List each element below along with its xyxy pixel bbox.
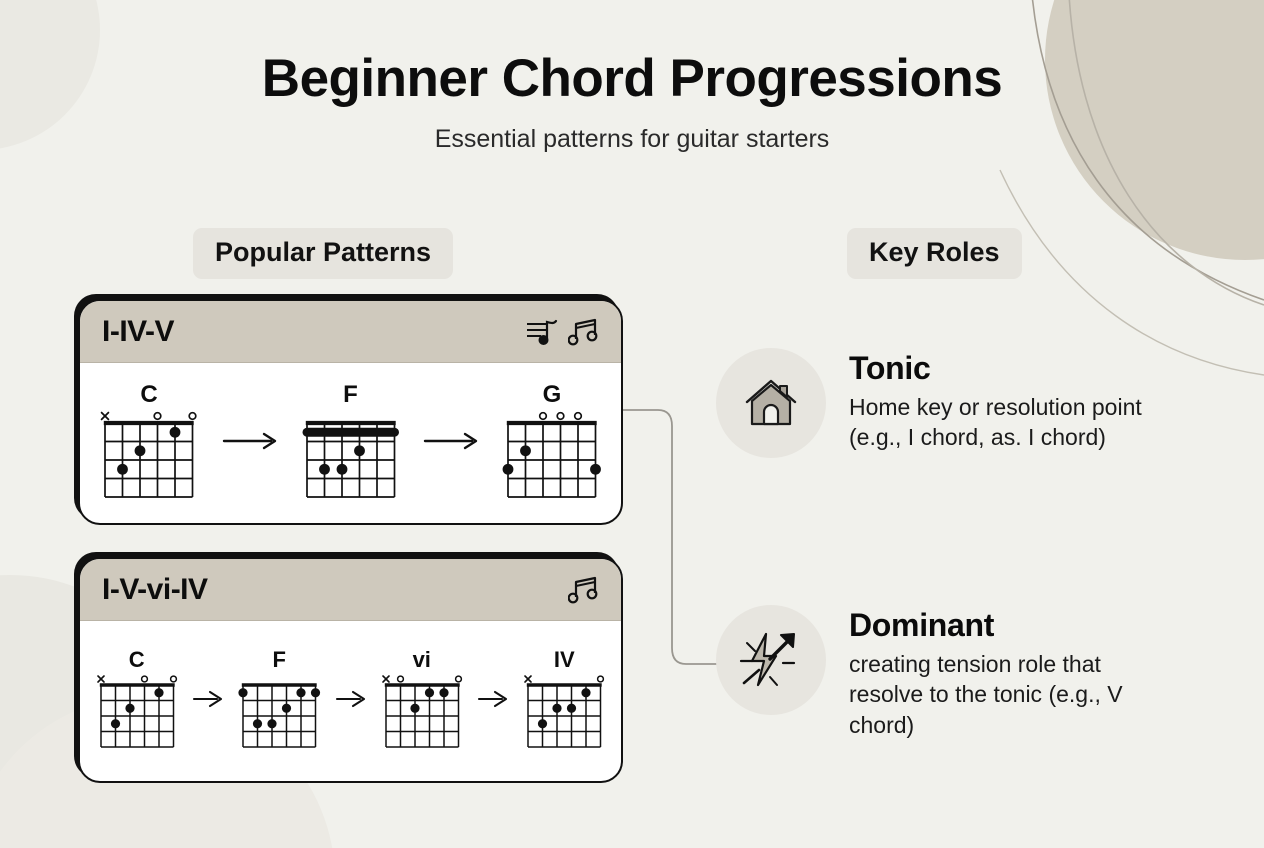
progression-arrow [476, 687, 510, 716]
connector-path [618, 410, 724, 664]
chord-label: F [273, 649, 286, 671]
chord-diagram [92, 672, 183, 753]
progression-arrow-icon [334, 687, 368, 711]
chord-item: vi [377, 649, 468, 753]
chord-item: IV [519, 649, 610, 753]
card-title: I-V-vi-IV [102, 573, 208, 607]
card-header-icons [525, 317, 599, 347]
card-header-icons [568, 575, 599, 605]
progression-arrow [191, 687, 225, 716]
role-badge [716, 348, 826, 458]
decor-arc-3 [1000, 170, 1264, 375]
page-header: Beginner Chord Progressions Essential pa… [0, 52, 1264, 154]
role-text: Dominant creating tension role that reso… [849, 605, 1169, 740]
house-icon [740, 372, 802, 434]
card-title: I-IV-V [102, 315, 174, 349]
progression-arrow [334, 687, 368, 716]
role-title: Dominant [849, 609, 1169, 643]
card-header: I-IV-V [80, 301, 621, 363]
chord-item: F [234, 649, 325, 753]
chord-diagram [519, 672, 610, 753]
chord-diagram [497, 408, 607, 504]
page-subtitle: Essential patterns for guitar starters [0, 125, 1264, 154]
chord-label: G [543, 383, 562, 407]
role-badge [716, 605, 826, 715]
chord-item: C [94, 383, 204, 504]
chord-diagram [94, 408, 204, 504]
chord-diagram [296, 408, 406, 504]
progression-arrow-icon [476, 687, 510, 711]
beamed-notes-icon [568, 575, 599, 605]
progression-arrow [422, 429, 480, 458]
pattern-card-i-v-vi-iv[interactable]: I-V-vi-IV CFviIV [78, 557, 623, 783]
chord-diagram [234, 672, 325, 753]
key-role-dominant: Dominant creating tension role that reso… [716, 605, 1169, 740]
chord-item: G [497, 383, 607, 504]
page-title: Beginner Chord Progressions [0, 52, 1264, 105]
key-role-tonic: Tonic Home key or resolution point (e.g.… [716, 348, 1169, 458]
card-body: CFviIV [80, 621, 621, 781]
card-body: CFG [80, 363, 621, 523]
chord-label: IV [554, 649, 575, 671]
chord-item: C [92, 649, 183, 753]
chord-label: F [343, 383, 358, 407]
chord-label: C [140, 383, 157, 407]
chord-diagram [377, 672, 468, 753]
beamed-notes-icon [568, 317, 599, 347]
progression-arrow-icon [221, 429, 279, 453]
card-header: I-V-vi-IV [80, 559, 621, 621]
role-description: Home key or resolution point (e.g., I ch… [849, 392, 1169, 453]
section-label-popular-patterns: Popular Patterns [193, 228, 453, 279]
role-description: creating tension role that resolve to th… [849, 649, 1169, 741]
music-note-lines-icon [525, 317, 559, 347]
chord-item: F [296, 383, 406, 504]
section-label-key-roles: Key Roles [847, 228, 1022, 279]
pattern-card-i-iv-v[interactable]: I-IV-V CFG [78, 299, 623, 525]
chord-label: vi [413, 649, 431, 671]
lightning-arrow-icon [736, 625, 806, 695]
chord-progression-row: CFviIV [92, 649, 610, 753]
role-title: Tonic [849, 352, 1169, 386]
progression-arrow-icon [191, 687, 225, 711]
progression-arrow-icon [422, 429, 480, 453]
progression-arrow [221, 429, 279, 458]
chord-label: C [129, 649, 145, 671]
chord-progression-row: CFG [94, 383, 607, 504]
role-text: Tonic Home key or resolution point (e.g.… [849, 348, 1169, 453]
